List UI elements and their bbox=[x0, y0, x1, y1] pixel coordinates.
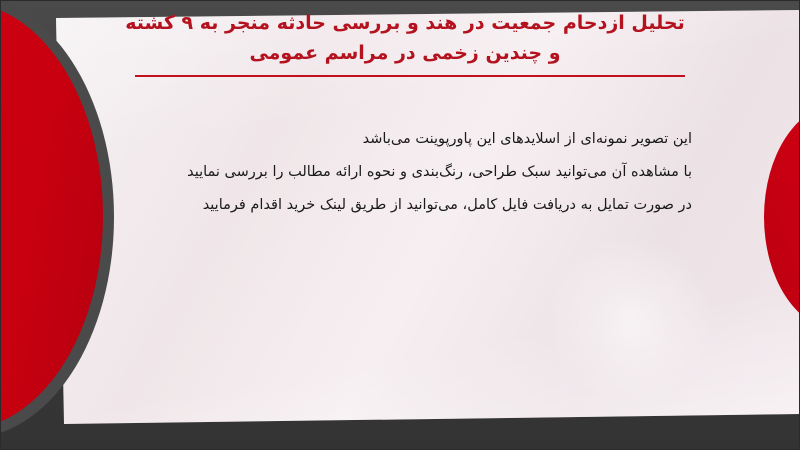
slide-title: تحلیل ازدحام جمعیت در هند و بررسی حادثه … bbox=[120, 8, 690, 68]
body-line-2: با مشاهده آن می‌توانید سبک طراحی، رنگ‌بن… bbox=[110, 156, 692, 189]
body-line-3: در صورت تمایل به دریافت فایل کامل، می‌تو… bbox=[110, 189, 692, 222]
presentation-slide: تحلیل ازدحام جمعیت در هند و بررسی حادثه … bbox=[0, 0, 800, 450]
slide-body: این تصویر نمونه‌ای از اسلایدهای این پاور… bbox=[110, 123, 692, 222]
title-underline-rule bbox=[135, 75, 685, 77]
body-line-1: این تصویر نمونه‌ای از اسلایدهای این پاور… bbox=[110, 123, 692, 156]
